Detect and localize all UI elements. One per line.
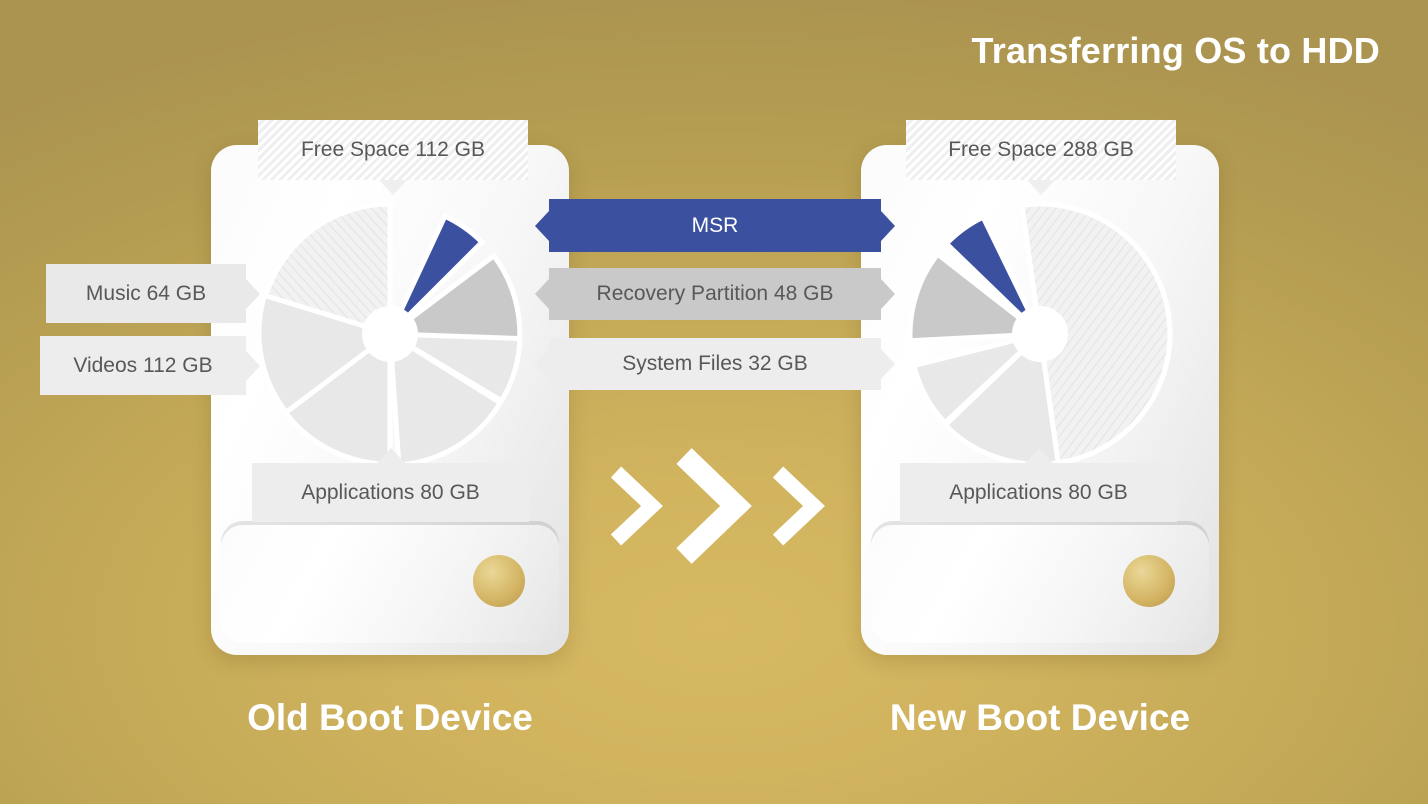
label-text: Applications 80 GB [301, 481, 480, 505]
label-old-free-space[interactable]: Free Space 112 GB [258, 120, 528, 180]
chevron-right-icon [616, 472, 652, 540]
label-text: MSR [692, 214, 739, 238]
label-text: Free Space 288 GB [948, 138, 1134, 162]
callout-pointer-right-icon [246, 279, 260, 309]
pie-hub [1012, 306, 1068, 362]
label-recovery-partition[interactable]: Recovery Partition 48 GB [549, 268, 881, 320]
label-text: Applications 80 GB [949, 481, 1128, 505]
callout-pointer-right-icon [881, 349, 895, 379]
callout-pointer-left-icon [535, 279, 549, 309]
callout-pointer-left-icon [535, 349, 549, 379]
label-text: System Files 32 GB [622, 352, 808, 376]
label-msr[interactable]: MSR [549, 199, 881, 252]
label-new-free-space[interactable]: Free Space 288 GB [906, 120, 1176, 180]
callout-pointer-up-icon [1025, 448, 1053, 463]
old-device-pie-chart [256, 200, 524, 468]
label-text: Free Space 112 GB [301, 138, 485, 162]
drive-activity-led-icon [1123, 555, 1175, 607]
pie-hub [362, 306, 418, 362]
label-text: Videos 112 GB [73, 354, 212, 378]
label-text: Recovery Partition 48 GB [597, 282, 834, 306]
new-device-caption: New Boot Device [860, 697, 1220, 739]
transfer-arrows [608, 448, 828, 564]
page-title: Transferring OS to HDD [972, 30, 1380, 72]
chevron-right-icon [778, 472, 814, 540]
old-boot-device-body[interactable] [211, 145, 569, 655]
label-system-files[interactable]: System Files 32 GB [549, 338, 881, 390]
callout-pointer-left-icon [535, 211, 549, 241]
new-device-pie-chart [906, 200, 1174, 468]
callout-pointer-up-icon [377, 448, 405, 463]
drive-activity-led-icon [473, 555, 525, 607]
callout-pointer-down-icon [379, 180, 407, 195]
label-old-applications[interactable]: Applications 80 GB [252, 463, 529, 522]
callout-pointer-right-icon [246, 351, 260, 381]
label-old-videos[interactable]: Videos 112 GB [40, 336, 246, 395]
label-old-music[interactable]: Music 64 GB [46, 264, 246, 323]
old-device-tray [221, 525, 559, 643]
new-boot-device-body[interactable] [861, 145, 1219, 655]
callout-pointer-down-icon [1027, 180, 1055, 195]
callout-pointer-right-icon [881, 279, 895, 309]
chevron-right-icon [684, 456, 736, 556]
old-device-caption: Old Boot Device [210, 697, 570, 739]
callout-pointer-right-icon [881, 211, 895, 241]
label-text: Music 64 GB [86, 282, 206, 306]
label-new-applications[interactable]: Applications 80 GB [900, 463, 1177, 522]
new-device-tray [871, 525, 1209, 643]
